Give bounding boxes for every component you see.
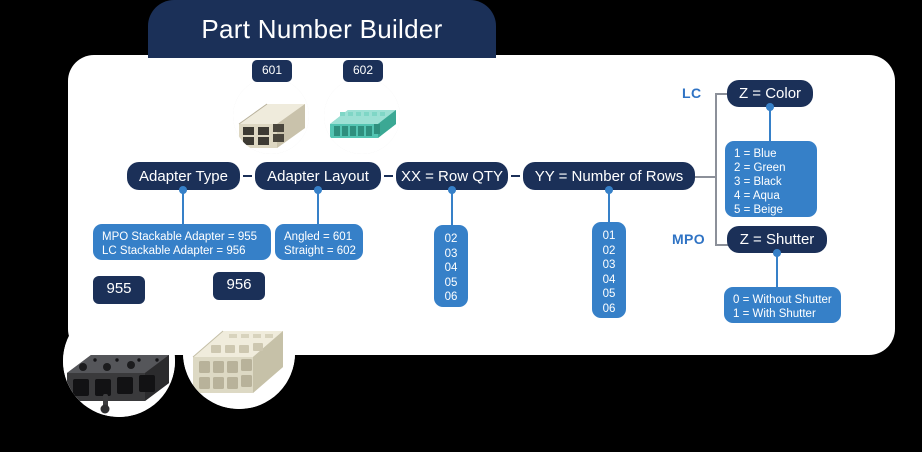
- option-number-of-rows-5: 06: [592, 302, 626, 317]
- flow-separator-1: [243, 175, 252, 177]
- page-title: Part Number Builder: [201, 14, 442, 45]
- option-shutter-0: 0 = Without Shutter: [733, 293, 832, 307]
- flow-step-adapter-type-label: Adapter Type: [139, 168, 228, 185]
- option-shutter-1: 1 = With Shutter: [733, 307, 832, 321]
- option-number-of-rows-2: 03: [592, 258, 626, 273]
- photo-602: [324, 78, 400, 154]
- options-adapter-layout[interactable]: Angled = 601 Straight = 602: [275, 224, 363, 260]
- option-adapter-layout-1: Straight = 602: [284, 244, 354, 258]
- connector-line-color: [769, 107, 771, 141]
- option-color-2: 3 = Black: [734, 175, 808, 189]
- mpo-stackable-adapter-black-icon: [63, 305, 175, 417]
- flow-separator-2: [384, 175, 393, 177]
- branch-box-color-label: Z = Color: [739, 85, 801, 102]
- option-row-qty-3: 05: [434, 276, 468, 291]
- option-color-3: 4 = Aqua: [734, 189, 808, 203]
- option-number-of-rows-4: 05: [592, 287, 626, 302]
- option-number-of-rows-0: 01: [592, 229, 626, 244]
- option-number-of-rows-3: 04: [592, 273, 626, 288]
- option-row-qty-2: 04: [434, 261, 468, 276]
- options-adapter-type[interactable]: MPO Stackable Adapter = 955 LC Stackable…: [93, 224, 271, 260]
- options-color[interactable]: 1 = Blue 2 = Green 3 = Black 4 = Aqua 5 …: [725, 141, 817, 217]
- branch-label-lc-text: LC: [682, 85, 701, 101]
- diagram-canvas: Part Number Builder 601: [0, 0, 922, 452]
- straight-aqua-adapter-icon: [324, 78, 400, 154]
- badge-955-label: 955: [106, 280, 131, 297]
- option-color-1: 2 = Green: [734, 161, 808, 175]
- flow-step-adapter-layout-label: Adapter Layout: [267, 168, 369, 185]
- branch-trunk: [715, 93, 717, 245]
- option-color-4: 5 = Beige: [734, 203, 808, 217]
- option-number-of-rows-1: 02: [592, 244, 626, 259]
- badge-602: 602: [343, 60, 383, 82]
- option-row-qty-0: 02: [434, 232, 468, 247]
- badge-955: 955: [93, 276, 145, 304]
- option-row-qty-4: 06: [434, 290, 468, 305]
- photo-956: [183, 297, 295, 409]
- branch-label-lc: LC: [682, 85, 701, 101]
- flow-step-number-of-rows-label: YY = Number of Rows: [535, 168, 684, 185]
- branch-label-mpo-text: MPO: [672, 231, 705, 247]
- branch-to-shutter: [715, 244, 728, 246]
- connector-line-number-of-rows: [608, 190, 610, 222]
- connector-line-adapter-layout: [317, 190, 319, 224]
- badge-601: 601: [252, 60, 292, 82]
- connector-line-adapter-type: [182, 190, 184, 224]
- photo-955: [63, 305, 175, 417]
- flow-separator-3: [511, 175, 520, 177]
- options-shutter[interactable]: 0 = Without Shutter 1 = With Shutter: [724, 287, 841, 323]
- badge-602-label: 602: [353, 63, 373, 77]
- lc-stackable-adapter-beige-icon: [183, 297, 295, 409]
- option-adapter-layout-0: Angled = 601: [284, 230, 354, 244]
- branch-stem: [695, 176, 716, 178]
- photo-601: [233, 78, 309, 154]
- badge-956-label: 956: [226, 276, 251, 293]
- options-number-of-rows[interactable]: 01 02 03 04 05 06: [592, 222, 626, 318]
- option-adapter-type-1: LC Stackable Adapter = 956: [102, 244, 262, 258]
- option-row-qty-1: 03: [434, 247, 468, 262]
- flow-step-row-qty-label: XX = Row QTY: [401, 168, 503, 185]
- branch-label-mpo: MPO: [672, 231, 705, 247]
- connector-line-shutter: [776, 253, 778, 287]
- options-row-qty[interactable]: 02 03 04 05 06: [434, 225, 468, 307]
- branch-box-shutter-label: Z = Shutter: [740, 231, 815, 248]
- badge-956: 956: [213, 272, 265, 300]
- option-adapter-type-0: MPO Stackable Adapter = 955: [102, 230, 262, 244]
- title-tab: Part Number Builder: [148, 0, 496, 58]
- angled-beige-adapter-icon: [233, 78, 309, 154]
- option-color-0: 1 = Blue: [734, 147, 808, 161]
- connector-line-row-qty: [451, 190, 453, 225]
- badge-601-label: 601: [262, 63, 282, 77]
